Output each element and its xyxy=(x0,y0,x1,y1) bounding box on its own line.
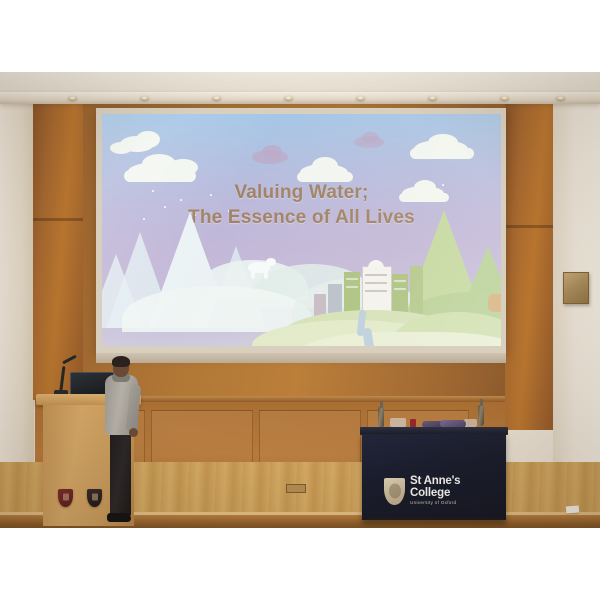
cloud-icon xyxy=(110,142,132,154)
table-shadow xyxy=(362,519,506,525)
right-wood-pillar xyxy=(505,100,553,430)
speaker-hair xyxy=(112,356,130,367)
ceiling-downlight-icon xyxy=(356,96,365,100)
college-crest-icon xyxy=(384,478,405,505)
ceiling-downlight-icon xyxy=(140,96,149,100)
polar-bear-leg xyxy=(251,270,255,279)
town-building-roof xyxy=(368,260,384,268)
lecture-hall-photograph: Valuing Water; The Essence of All Lives xyxy=(0,72,600,528)
branded-table: St Anne's College University of Oxford xyxy=(360,427,508,527)
drinking-glasses xyxy=(390,418,406,427)
ceiling-downlight-icon xyxy=(284,96,293,100)
orange-field xyxy=(488,294,501,312)
speaker-trousers xyxy=(110,432,131,516)
college-logo: St Anne's College University of Oxford xyxy=(384,476,492,506)
lectern-crest-right xyxy=(87,489,102,507)
presentation-slide: Valuing Water; The Essence of All Lives xyxy=(102,114,501,346)
ceiling-downlight-icon xyxy=(556,96,565,100)
cloud-icon xyxy=(410,148,474,159)
paper-on-floor xyxy=(566,506,579,514)
speaker-shoes xyxy=(107,513,131,522)
college-subtitle: University of Oxford xyxy=(410,499,460,506)
building-windows xyxy=(365,282,387,284)
ceiling-downlight-icon xyxy=(500,96,509,100)
table-cloth: St Anne's College University of Oxford xyxy=(362,434,506,520)
ceiling-downlight-icon xyxy=(212,96,221,100)
building-windows xyxy=(365,290,387,292)
projector-screen[interactable]: Valuing Water; The Essence of All Lives xyxy=(96,108,506,353)
ceiling-downlight-icon xyxy=(428,96,437,100)
building-windows xyxy=(394,288,406,290)
cloud-icon xyxy=(262,145,282,158)
building-windows xyxy=(346,278,358,280)
polar-bear-head xyxy=(266,258,276,266)
water-bottle xyxy=(378,407,384,428)
building-windows xyxy=(346,286,358,288)
ceiling-downlight-icon xyxy=(68,96,77,100)
lectern-crest-left xyxy=(58,489,73,507)
photo-page: Valuing Water; The Essence of All Lives xyxy=(0,0,600,600)
floor-socket xyxy=(286,484,306,493)
polar-bear-leg xyxy=(264,270,268,279)
cloud-icon xyxy=(136,131,160,148)
college-name-line-1: St Anne's xyxy=(410,476,460,488)
water-bottle xyxy=(478,405,484,426)
wall-plaque xyxy=(563,272,589,304)
speaker-hand xyxy=(129,428,138,437)
red-object xyxy=(410,419,416,427)
college-name-line-2: College xyxy=(410,488,460,500)
screen-bottom-bar xyxy=(96,353,506,363)
cloud-icon xyxy=(362,132,379,143)
ceiling-soffit xyxy=(0,92,600,104)
building-windows xyxy=(365,274,387,276)
slide-title-line-1: Valuing Water; xyxy=(102,180,501,205)
building-windows xyxy=(394,280,406,282)
speaker-person xyxy=(101,358,141,526)
town-building xyxy=(410,266,423,316)
